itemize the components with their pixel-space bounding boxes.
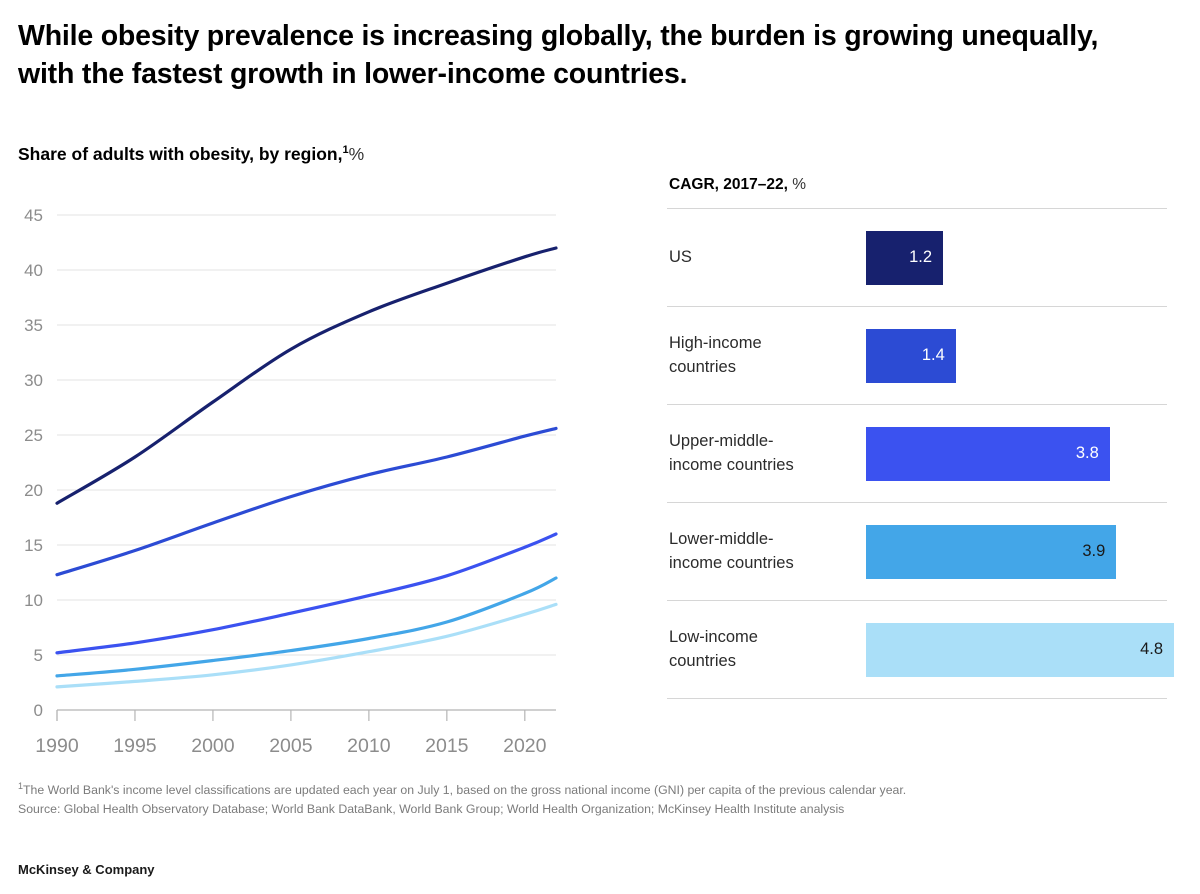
- y-axis-tick-label: 30: [24, 371, 43, 390]
- y-axis-tick-label: 15: [24, 536, 43, 555]
- cagr-bar-label-line: High-income: [669, 332, 866, 356]
- cagr-bar-label-line: income countries: [669, 552, 866, 576]
- cagr-bar-label: Upper-middle-income countries: [667, 430, 866, 478]
- cagr-bar-value: 3.9: [1082, 542, 1105, 561]
- x-axis-tick-label: 2015: [425, 735, 469, 757]
- cagr-bar-track: 3.9: [866, 503, 1167, 600]
- cagr-title-unit: %: [792, 176, 806, 193]
- cagr-bar-label: Low-incomecountries: [667, 626, 866, 674]
- cagr-bar-track: 1.4: [866, 307, 1167, 404]
- page-title: While obesity prevalence is increasing g…: [18, 18, 1148, 93]
- line-series-1: [57, 248, 556, 503]
- cagr-bar-label-line: Lower-middle-: [669, 528, 866, 552]
- cagr-bar-label-line: countries: [669, 650, 866, 674]
- cagr-bar: 3.8: [866, 427, 1110, 481]
- chart-page: While obesity prevalence is increasing g…: [0, 0, 1200, 894]
- cagr-bar: 3.9: [866, 525, 1116, 579]
- y-axis-tick-label: 10: [24, 591, 43, 610]
- y-axis-tick-label: 35: [24, 316, 43, 335]
- cagr-bar-label-line: Low-income: [669, 626, 866, 650]
- cagr-bar: 1.4: [866, 329, 956, 383]
- y-axis-tick-label: 20: [24, 481, 43, 500]
- cagr-bar-row: High-incomecountries1.4: [667, 307, 1167, 405]
- cagr-bar-label: Lower-middle-income countries: [667, 528, 866, 576]
- linechart-subtitle-unit: %: [349, 144, 365, 164]
- cagr-bar-value: 3.8: [1076, 444, 1099, 463]
- cagr-bar-track: 3.8: [866, 405, 1167, 502]
- cagr-bar-value: 1.2: [909, 248, 932, 267]
- footnote-note: 1The World Bank's income level classific…: [18, 780, 1188, 800]
- y-axis-tick-label: 45: [24, 206, 43, 225]
- cagr-title-text: CAGR, 2017–22,: [669, 176, 788, 193]
- cagr-bar: 4.8: [866, 623, 1174, 677]
- line-series-2: [57, 428, 556, 574]
- cagr-bar-row: Lower-middle-income countries3.9: [667, 503, 1167, 601]
- linechart-subtitle: Share of adults with obesity, by region,…: [18, 144, 364, 165]
- cagr-panel-title: CAGR, 2017–22, %: [669, 176, 1174, 194]
- x-axis-tick-label: 2010: [347, 735, 391, 757]
- x-axis-tick-label: 2020: [503, 735, 547, 757]
- cagr-bar-row: Low-incomecountries4.8: [667, 601, 1167, 699]
- cagr-bar-track: 1.2: [866, 209, 1167, 306]
- x-axis-tick-label: 1995: [113, 735, 157, 757]
- cagr-bar-row: US1.2: [667, 209, 1167, 307]
- cagr-bar-value: 1.4: [922, 346, 945, 365]
- line-chart: 0510152025303540451990199520002005201020…: [0, 190, 620, 770]
- cagr-bar-label-line: income countries: [669, 454, 866, 478]
- cagr-bar-label-line: Upper-middle-: [669, 430, 866, 454]
- cagr-bar-value: 4.8: [1140, 640, 1163, 659]
- x-axis-tick-label: 2000: [191, 735, 235, 757]
- linechart-subtitle-text: Share of adults with obesity, by region,: [18, 144, 342, 164]
- cagr-bar-label: High-incomecountries: [667, 332, 866, 380]
- y-axis-tick-label: 40: [24, 261, 43, 280]
- cagr-bar-list: US1.2High-incomecountries1.4Upper-middle…: [667, 208, 1167, 699]
- cagr-bar-label-line: countries: [669, 356, 866, 380]
- line-series-5: [57, 604, 556, 687]
- footnote-note-text: The World Bank's income level classifica…: [23, 783, 906, 797]
- y-axis-tick-label: 25: [24, 426, 43, 445]
- cagr-bar-label-line: US: [669, 246, 866, 270]
- cagr-bar-row: Upper-middle-income countries3.8: [667, 405, 1167, 503]
- cagr-bar-track: 4.8: [866, 601, 1167, 698]
- x-axis-tick-label: 2005: [269, 735, 313, 757]
- cagr-bar: 1.2: [866, 231, 943, 285]
- brand-mckinsey: McKinsey & Company: [18, 862, 155, 877]
- cagr-panel: CAGR, 2017–22, % US1.2High-incomecountri…: [667, 176, 1174, 699]
- line-chart-svg: 0510152025303540451990199520002005201020…: [0, 190, 620, 770]
- x-axis-tick-label: 1990: [35, 735, 79, 757]
- cagr-bar-label: US: [667, 246, 866, 270]
- footnotes: 1The World Bank's income level classific…: [18, 780, 1188, 819]
- footnote-source: Source: Global Health Observatory Databa…: [18, 800, 1188, 819]
- y-axis-tick-label: 0: [34, 701, 43, 720]
- y-axis-tick-label: 5: [34, 646, 43, 665]
